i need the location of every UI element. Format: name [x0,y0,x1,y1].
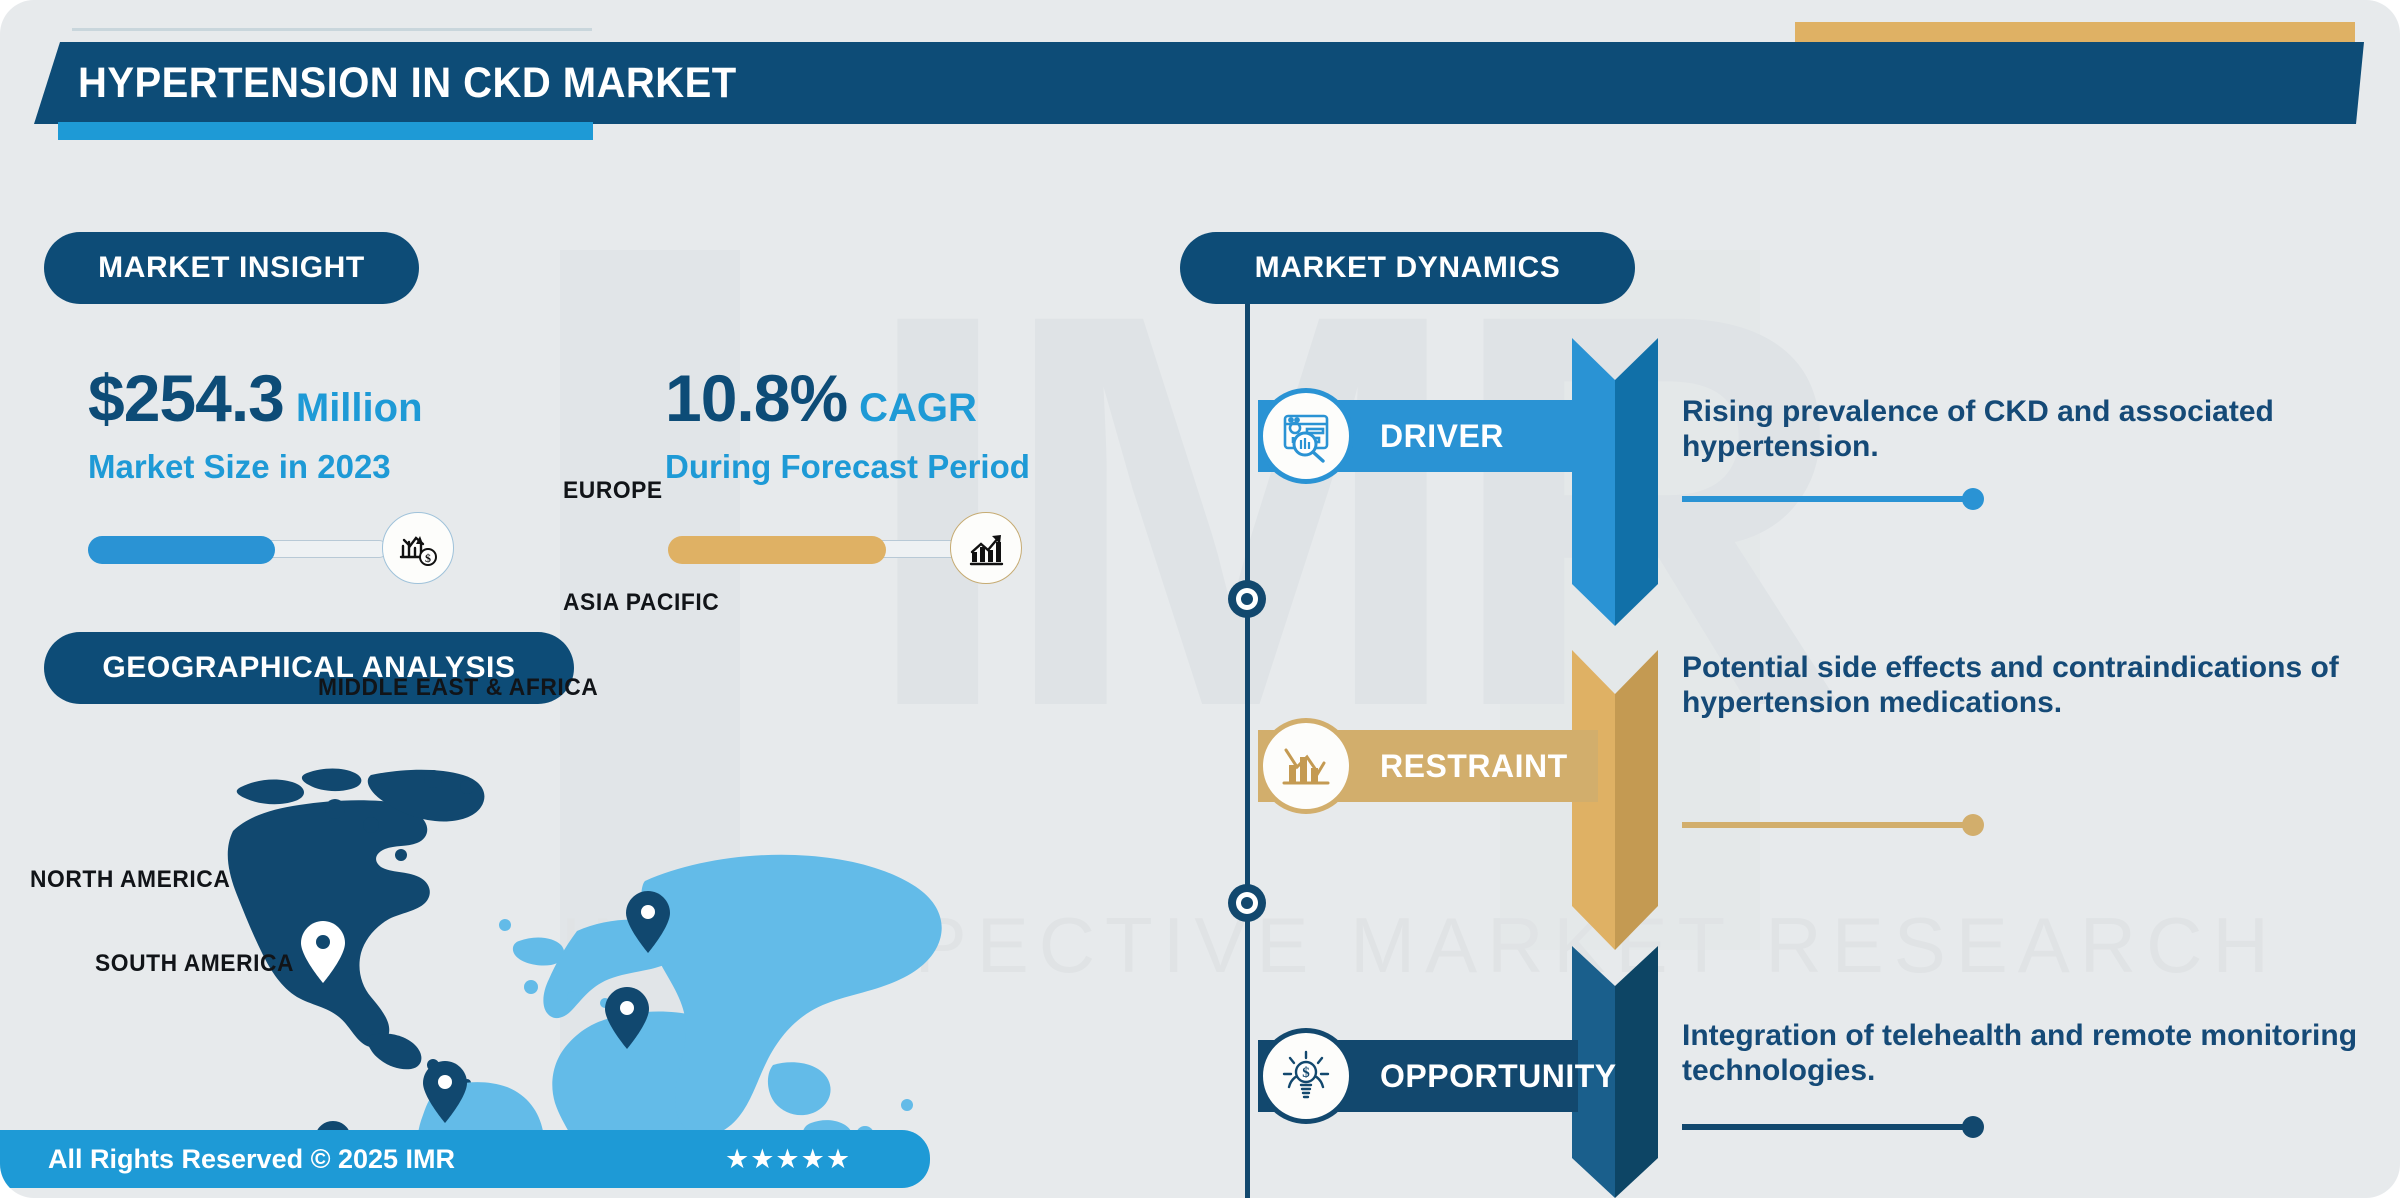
map-label-south-america: SOUTH AMERICA [95,950,294,978]
driver-label: DRIVER [1380,418,1504,455]
opportunity-lead-line [1682,1124,1972,1130]
svg-text:$: $ [425,551,431,565]
map-label-middle-east-africa: MIDDLE EAST & AFRICA [318,674,598,702]
restraint-lead-line [1682,822,1972,828]
page-title: HYPERTENSION IN CKD MARKET [78,52,737,114]
map-region-north-america [228,769,485,1088]
market-size-progress-track [88,540,388,558]
driver-lead-line [1682,496,1972,502]
growth-chart-arrow-icon [950,512,1022,584]
lightbulb-dollar-icon: $ [1258,1028,1354,1124]
svg-text:$: $ [1302,1065,1310,1081]
restraint-bar[interactable]: RESTRAINT [1258,730,1598,802]
driver-ribbon [1572,338,1658,626]
opportunity-label: OPPORTUNITY [1380,1058,1617,1095]
kpi-market-size-value: $254.3 [88,360,284,436]
kpi-market-size: $254.3Million Market Size in 2023 [88,360,423,486]
map-label-asia-pacific: ASIA PACIFIC [563,589,719,617]
copyright-text: All Rights Reserved © 2025 IMR [48,1130,455,1188]
dashboard-magnifier-icon [1258,388,1354,484]
restraint-description: Potential side effects and contraindicat… [1682,650,2392,721]
cagr-progress-track [668,540,968,558]
timeline-node-2 [1228,884,1266,922]
driver-lead-dot [1962,488,1984,510]
footer-bar: All Rights Reserved © 2025 IMR ★★★★★ [0,1130,930,1188]
timeline-node-1 [1228,580,1266,618]
world-map [175,735,1005,1135]
restraint-label: RESTRAINT [1380,748,1568,785]
kpi-cagr-unit: CAGR [859,386,977,431]
star-rating: ★★★★★ [725,1130,851,1188]
dynamics-timeline-spine [1245,304,1250,1198]
bar-chart-dollar-icon: $ [382,512,454,584]
opportunity-description: Integration of telehealth and remote mon… [1682,1018,2382,1089]
map-region-asia [640,855,942,1135]
header-thin-rule [72,28,592,31]
kpi-cagr-caption: During Forecast Period [665,448,1030,486]
market-dynamics-pill: MARKET DYNAMICS [1180,232,1635,304]
declining-bar-chart-icon [1258,718,1354,814]
map-label-europe: EUROPE [563,477,663,505]
kpi-market-size-unit: Million [296,386,423,431]
kpi-cagr: 10.8%CAGR During Forecast Period [665,360,1030,486]
market-size-progress-fill [88,536,275,564]
map-label-north-america: NORTH AMERICA [30,866,230,894]
infographic-page: IMR INTROSPECTIVE MARKET RESEARCH HYPERT… [0,0,2400,1198]
opportunity-bar[interactable]: OPPORTUNITY $ [1258,1040,1578,1112]
kpi-cagr-value: 10.8% [665,360,847,436]
restraint-lead-dot [1962,814,1984,836]
kpi-market-size-caption: Market Size in 2023 [88,448,423,486]
opportunity-lead-dot [1962,1116,1984,1138]
market-insight-pill: MARKET INSIGHT [44,232,419,304]
driver-bar[interactable]: DRIVER [1258,400,1578,472]
header-blue-underbar [58,122,593,140]
cagr-progress-fill [668,536,886,564]
driver-description: Rising prevalence of CKD and associated … [1682,394,2322,465]
